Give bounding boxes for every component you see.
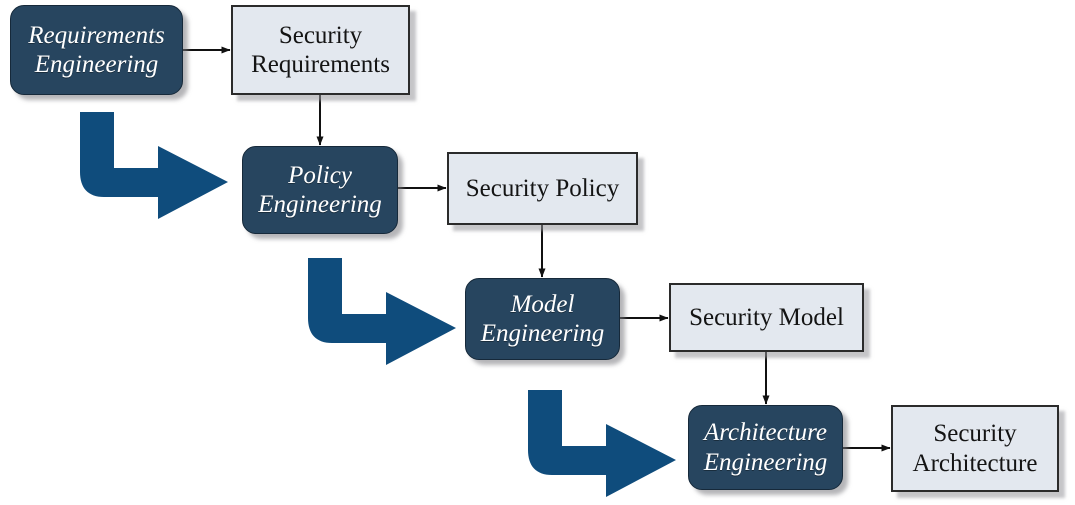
node-label-security-model: Security Model — [681, 303, 852, 333]
node-model-engineering[interactable]: Model Engineering — [465, 278, 620, 360]
node-security-architecture[interactable]: Security Architecture — [891, 405, 1059, 492]
node-security-requirements[interactable]: Security Requirements — [231, 5, 410, 95]
node-label-requirements-engineering: Requirements Engineering — [20, 21, 173, 80]
node-label-security-requirements: Security Requirements — [243, 21, 398, 80]
node-label-security-architecture: Security Architecture — [905, 419, 1046, 478]
node-label-architecture-engineering: Architecture Engineering — [696, 418, 836, 477]
node-label-policy-engineering: Policy Engineering — [250, 161, 390, 220]
node-security-policy[interactable]: Security Policy — [447, 152, 638, 225]
node-security-model[interactable]: Security Model — [669, 283, 864, 352]
node-architecture-engineering[interactable]: Architecture Engineering — [688, 405, 843, 490]
process-flow-diagram: Requirements Engineering Security Requir… — [0, 0, 1075, 505]
node-label-security-policy: Security Policy — [458, 174, 627, 204]
node-requirements-engineering[interactable]: Requirements Engineering — [10, 5, 183, 95]
node-policy-engineering[interactable]: Policy Engineering — [242, 146, 398, 234]
node-label-model-engineering: Model Engineering — [473, 290, 613, 349]
